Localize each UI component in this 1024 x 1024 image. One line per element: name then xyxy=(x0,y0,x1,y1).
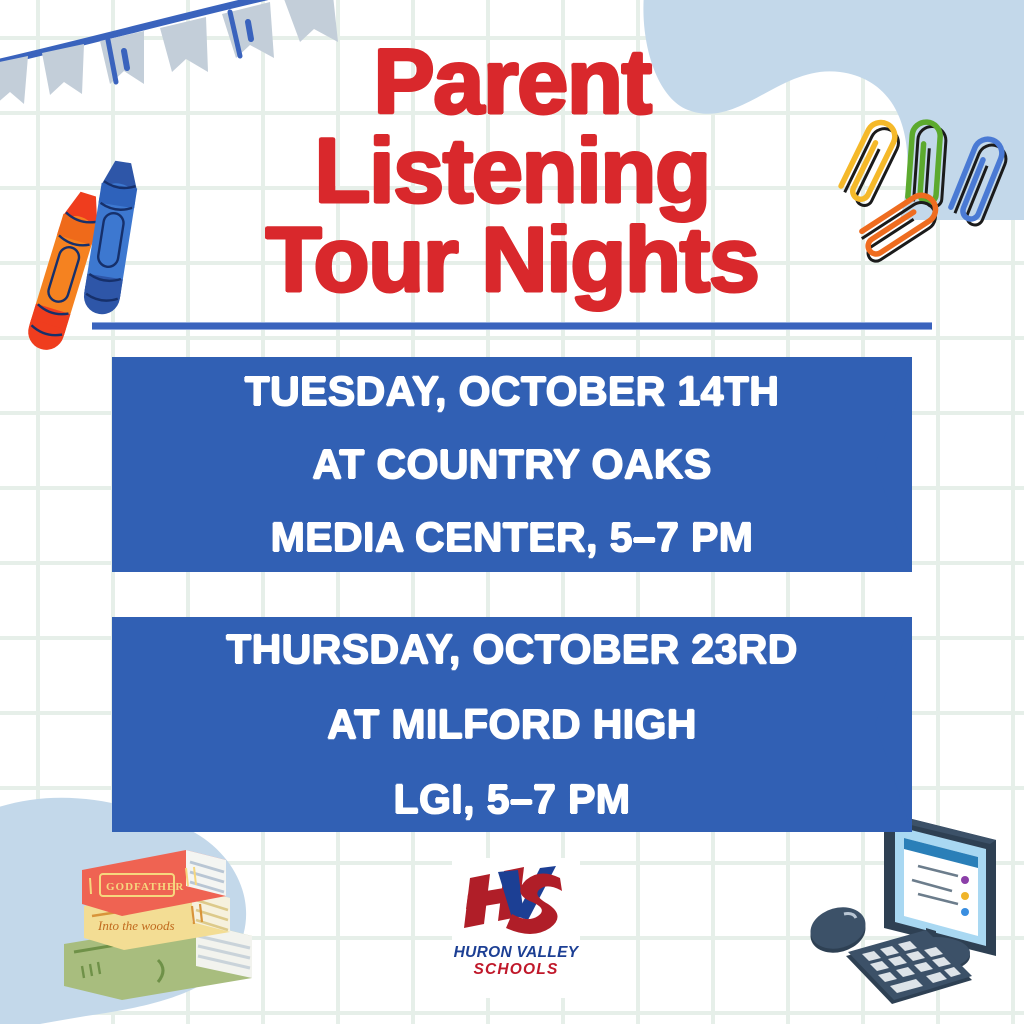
title-line-1: Parent xyxy=(0,38,1024,127)
title-line-2: Listening xyxy=(0,127,1024,216)
desktop-computer-icon xyxy=(800,804,1024,1020)
svg-text:Into the woods: Into the woods xyxy=(97,918,175,933)
title-divider xyxy=(92,322,932,330)
title-line-3: Tour Nights xyxy=(0,216,1024,305)
poster-title: Parent Listening Tour Nights xyxy=(0,38,1024,306)
event-1-date: TUESDAY, OCTOBER 14TH xyxy=(245,371,780,412)
event-1-location: AT COUNTRY OAKS xyxy=(312,444,711,485)
logo-line-1: HURON VALLEY xyxy=(452,944,580,961)
event-banner-2: THURSDAY, OCTOBER 23RD AT MILFORD HIGH L… xyxy=(112,617,912,832)
event-banner-1-text: TUESDAY, OCTOBER 14TH AT COUNTRY OAKS ME… xyxy=(112,357,912,572)
event-1-room-time: MEDIA CENTER, 5–7 PM xyxy=(271,517,754,558)
event-banner-1: TUESDAY, OCTOBER 14TH AT COUNTRY OAKS ME… xyxy=(112,357,912,572)
event-2-room-time: LGI, 5–7 PM xyxy=(394,779,631,820)
huron-valley-schools-logo: HURON VALLEY SCHOOLS xyxy=(452,858,580,998)
hvs-monogram-icon xyxy=(452,858,580,944)
event-2-location: AT MILFORD HIGH xyxy=(327,704,697,745)
poster-canvas: Into the woods GODFATHER xyxy=(0,0,1024,1024)
logo-line-2: SCHOOLS xyxy=(452,961,580,979)
event-banner-2-text: THURSDAY, OCTOBER 23RD AT MILFORD HIGH L… xyxy=(112,617,912,832)
svg-text:GODFATHER: GODFATHER xyxy=(106,881,184,893)
book-stack-icon: Into the woods GODFATHER xyxy=(46,840,266,1010)
event-2-date: THURSDAY, OCTOBER 23RD xyxy=(226,629,798,670)
